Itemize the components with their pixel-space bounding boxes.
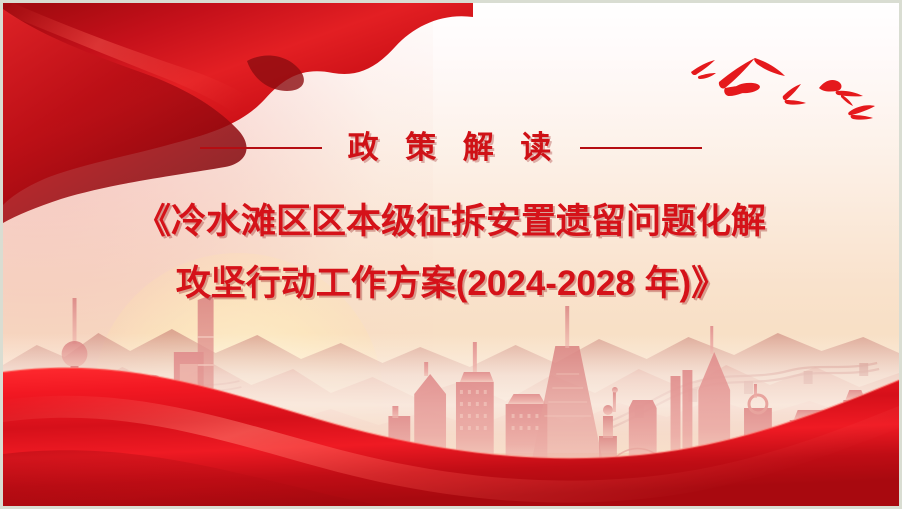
flying-birds	[663, 38, 893, 138]
page-title: 《冷水滩区区本级征拆安置遗留问题化解 攻坚行动工作方案(2024-2028 年)…	[3, 196, 899, 310]
eyebrow-rule-left	[200, 147, 322, 149]
eyebrow-label: 政 策 解 读	[322, 126, 581, 170]
slide-canvas: 政 策 解 读 《冷水滩区区本级征拆安置遗留问题化解 攻坚行动工作方案(2024…	[3, 3, 899, 506]
title-line-1: 《冷水滩区区本级征拆安置遗留问题化解	[3, 196, 899, 248]
policy-interpretation-slide: 政 策 解 读 《冷水滩区区本级征拆安置遗留问题化解 攻坚行动工作方案(2024…	[0, 0, 902, 509]
title-line-2: 攻坚行动工作方案(2024-2028 年)》	[3, 258, 899, 310]
red-silk-wave	[3, 336, 899, 506]
eyebrow-banner: 政 策 解 读	[3, 126, 899, 170]
eyebrow-rule-right	[580, 147, 702, 149]
